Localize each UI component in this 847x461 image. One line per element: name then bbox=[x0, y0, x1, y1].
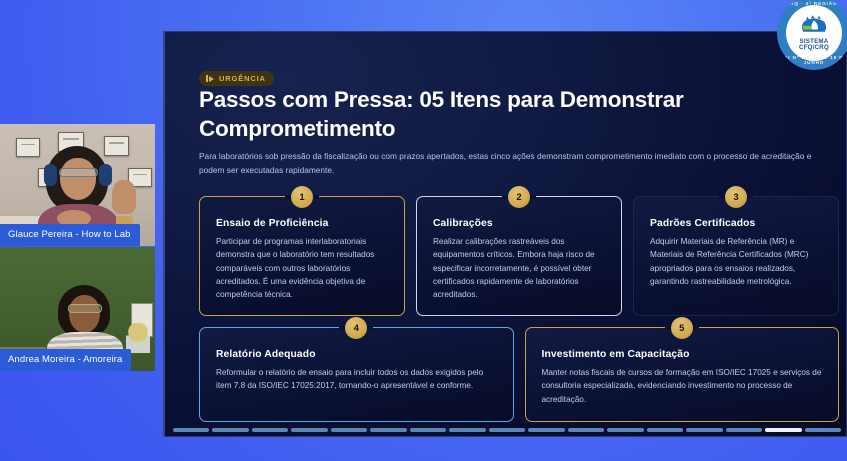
step-card-body: Adquirir Materiais de Referência (MR) e … bbox=[650, 235, 822, 288]
step-card-title: Calibrações bbox=[433, 218, 605, 229]
seal-line-2: CFQ/CRQ bbox=[799, 45, 829, 52]
progress-segment[interactable] bbox=[489, 428, 525, 432]
slide-title: Passos com Pressa: 05 Itens para Demonst… bbox=[199, 86, 759, 143]
progress-segment[interactable] bbox=[252, 428, 288, 432]
progress-segment[interactable] bbox=[370, 428, 406, 432]
progress-segment[interactable] bbox=[607, 428, 643, 432]
step-number-badge: 2 bbox=[508, 186, 530, 208]
step-card: 3 Padrões Certificados Adquirir Materiai… bbox=[633, 196, 839, 316]
step-card-title: Ensaio de Proficiência bbox=[216, 218, 388, 229]
progress-segment[interactable] bbox=[647, 428, 683, 432]
progress-segment[interactable] bbox=[686, 428, 722, 432]
step-number-badge: 5 bbox=[671, 317, 693, 339]
step-card-body: Manter notas fiscais de cursos de formaç… bbox=[542, 366, 823, 406]
play-icon bbox=[206, 74, 215, 83]
headset-earcup-right bbox=[99, 164, 112, 186]
step-card: 2 Calibrações Realizar calibrações rastr… bbox=[416, 196, 622, 316]
card-row-bottom: 4 Relatório Adequado Reformular o relató… bbox=[199, 327, 839, 422]
step-card-body: Participar de programas interlaboratoria… bbox=[216, 235, 388, 301]
step-card: 1 Ensaio de Proficiência Participar de p… bbox=[199, 196, 405, 316]
progress-segment[interactable] bbox=[291, 428, 327, 432]
card-row-top: 1 Ensaio de Proficiência Participar de p… bbox=[199, 196, 839, 316]
progress-segment[interactable] bbox=[331, 428, 367, 432]
headset-earcup-left bbox=[44, 164, 57, 186]
step-card-body: Realizar calibrações rastreáveis dos equ… bbox=[433, 235, 605, 301]
urgency-badge-label: URGÊNCIA bbox=[219, 74, 266, 83]
progress-segment[interactable] bbox=[805, 428, 841, 432]
progress-segment[interactable] bbox=[528, 428, 564, 432]
progress-segment[interactable] bbox=[212, 428, 248, 432]
participant-tile-glauce[interactable]: Glauce Pereira - How to Lab bbox=[0, 124, 155, 246]
step-card-title: Investimento em Capacitação bbox=[542, 349, 823, 360]
participant-name-label: Glauce Pereira - How to Lab bbox=[0, 224, 140, 246]
progress-segment[interactable] bbox=[568, 428, 604, 432]
wall-certificate bbox=[104, 136, 129, 156]
wall-certificate bbox=[16, 138, 40, 157]
step-number-badge: 4 bbox=[345, 317, 367, 339]
progress-segment[interactable] bbox=[726, 428, 762, 432]
slide-subtitle: Para laboratórios sob pressão da fiscali… bbox=[199, 150, 839, 178]
step-card: 4 Relatório Adequado Reformular o relató… bbox=[199, 327, 514, 422]
meeting-screen: Glauce Pereira - How to Lab Andrea Morei… bbox=[0, 0, 847, 461]
step-card: 5 Investimento em Capacitação Manter not… bbox=[525, 327, 840, 422]
urgency-badge: URGÊNCIA bbox=[199, 71, 274, 86]
progress-segment[interactable] bbox=[410, 428, 446, 432]
progress-segment[interactable] bbox=[173, 428, 209, 432]
progress-segment[interactable] bbox=[449, 428, 485, 432]
shared-screen-slide[interactable]: URGÊNCIA Passos com Pressa: 05 Itens par… bbox=[163, 31, 847, 437]
person-face bbox=[60, 158, 96, 200]
participant-name-label: Andrea Moreira - Amoreira bbox=[0, 349, 131, 371]
step-number-badge: 3 bbox=[725, 186, 747, 208]
gear-flask-icon bbox=[799, 15, 829, 38]
seal-inner-disc: SISTEMA CFQ/CRQ bbox=[786, 5, 842, 61]
step-card-body: Reformular o relatório de ensaio para in… bbox=[216, 366, 497, 393]
progress-segment[interactable] bbox=[765, 428, 801, 432]
person-hand-raised bbox=[112, 180, 136, 214]
eyeglasses bbox=[59, 168, 98, 177]
person-face bbox=[69, 295, 100, 333]
seal-ring-bottom-text: LEI Nº 2.800 DE 18 DE JUNHO bbox=[777, 55, 847, 65]
participant-tile-andrea[interactable]: Andrea Moreira - Amoreira bbox=[0, 247, 155, 371]
step-card-title: Relatório Adequado bbox=[216, 349, 497, 360]
step-card-title: Padrões Certificados bbox=[650, 218, 822, 229]
crq-seal-logo: CRQ · 4ª REGIÃO · SISTEMA CFQ/CRQ LEI Nº… bbox=[777, 0, 847, 70]
slide-progress-bar[interactable] bbox=[173, 428, 841, 432]
eyeglasses bbox=[68, 304, 102, 313]
step-number-badge: 1 bbox=[291, 186, 313, 208]
